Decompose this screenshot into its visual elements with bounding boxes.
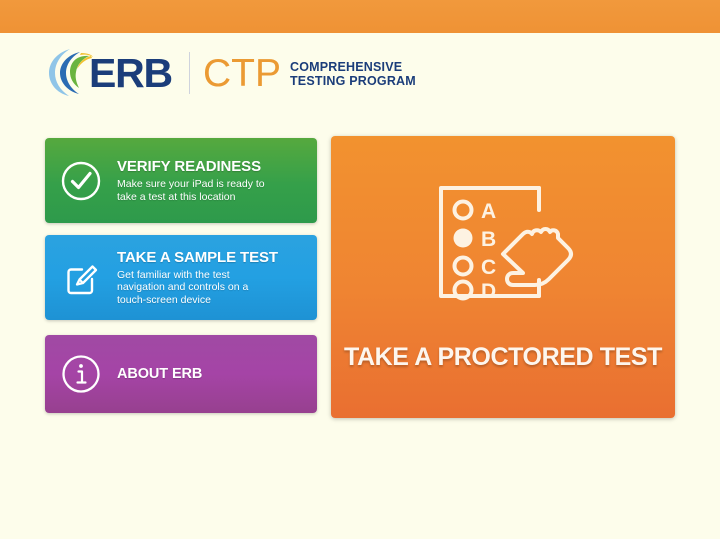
program-name: COMPREHENSIVE TESTING PROGRAM — [290, 60, 416, 88]
card-verify-title: VERIFY READINESS — [117, 158, 307, 175]
svg-text:D: D — [481, 280, 496, 303]
top-bar — [0, 0, 720, 33]
info-circle-icon — [45, 353, 117, 395]
app-root: ERB CTP COMPREHENSIVE TESTING PROGRAM VE… — [0, 0, 720, 539]
card-take-a-sample-test[interactable]: TAKE A SAMPLE TEST Get familiar with the… — [45, 235, 317, 320]
card-verify-readiness[interactable]: VERIFY READINESS Make sure your iPad is … — [45, 138, 317, 223]
card-sample-description: Get familiar with the test navigation an… — [117, 269, 307, 307]
card-sample-desc-line-1: Get familiar with the test — [117, 269, 307, 282]
header-logo-lockup: ERB CTP COMPREHENSIVE TESTING PROGRAM — [48, 44, 416, 100]
pencil-square-icon — [45, 257, 117, 299]
erb-swoosh-icon — [48, 46, 94, 98]
card-sample-desc-line-2: navigation and controls on a — [117, 281, 307, 294]
card-about-body: ABOUT ERB — [117, 366, 317, 383]
svg-text:B: B — [481, 228, 496, 251]
check-circle-icon — [45, 160, 117, 202]
panel-take-a-proctored-test[interactable]: A B C D TAKE A PROCTORED TEST — [331, 136, 675, 418]
svg-text:A: A — [481, 200, 496, 223]
program-name-line-1: COMPREHENSIVE — [290, 60, 416, 74]
proctored-label: TAKE A PROCTORED TEST — [344, 343, 662, 372]
logo-divider — [189, 52, 190, 94]
card-verify-desc-line-2: take a test at this location — [117, 191, 307, 204]
program-name-line-2: TESTING PROGRAM — [290, 74, 416, 88]
card-verify-desc-line-1: Make sure your iPad is ready to — [117, 178, 307, 191]
brand-wordmark: ERB — [89, 53, 172, 94]
svg-text:C: C — [481, 256, 496, 279]
card-sample-desc-line-3: touch-screen device — [117, 294, 307, 307]
answer-sheet-hand-icon: A B C D — [427, 180, 579, 309]
card-sample-title: TAKE A SAMPLE TEST — [117, 249, 307, 266]
card-about-title: ABOUT ERB — [117, 366, 307, 383]
card-about-erb[interactable]: ABOUT ERB — [45, 335, 317, 413]
card-verify-description: Make sure your iPad is ready to take a t… — [117, 178, 307, 203]
card-verify-body: VERIFY READINESS Make sure your iPad is … — [117, 158, 317, 203]
card-sample-body: TAKE A SAMPLE TEST Get familiar with the… — [117, 249, 317, 307]
program-abbr: CTP — [203, 54, 281, 93]
